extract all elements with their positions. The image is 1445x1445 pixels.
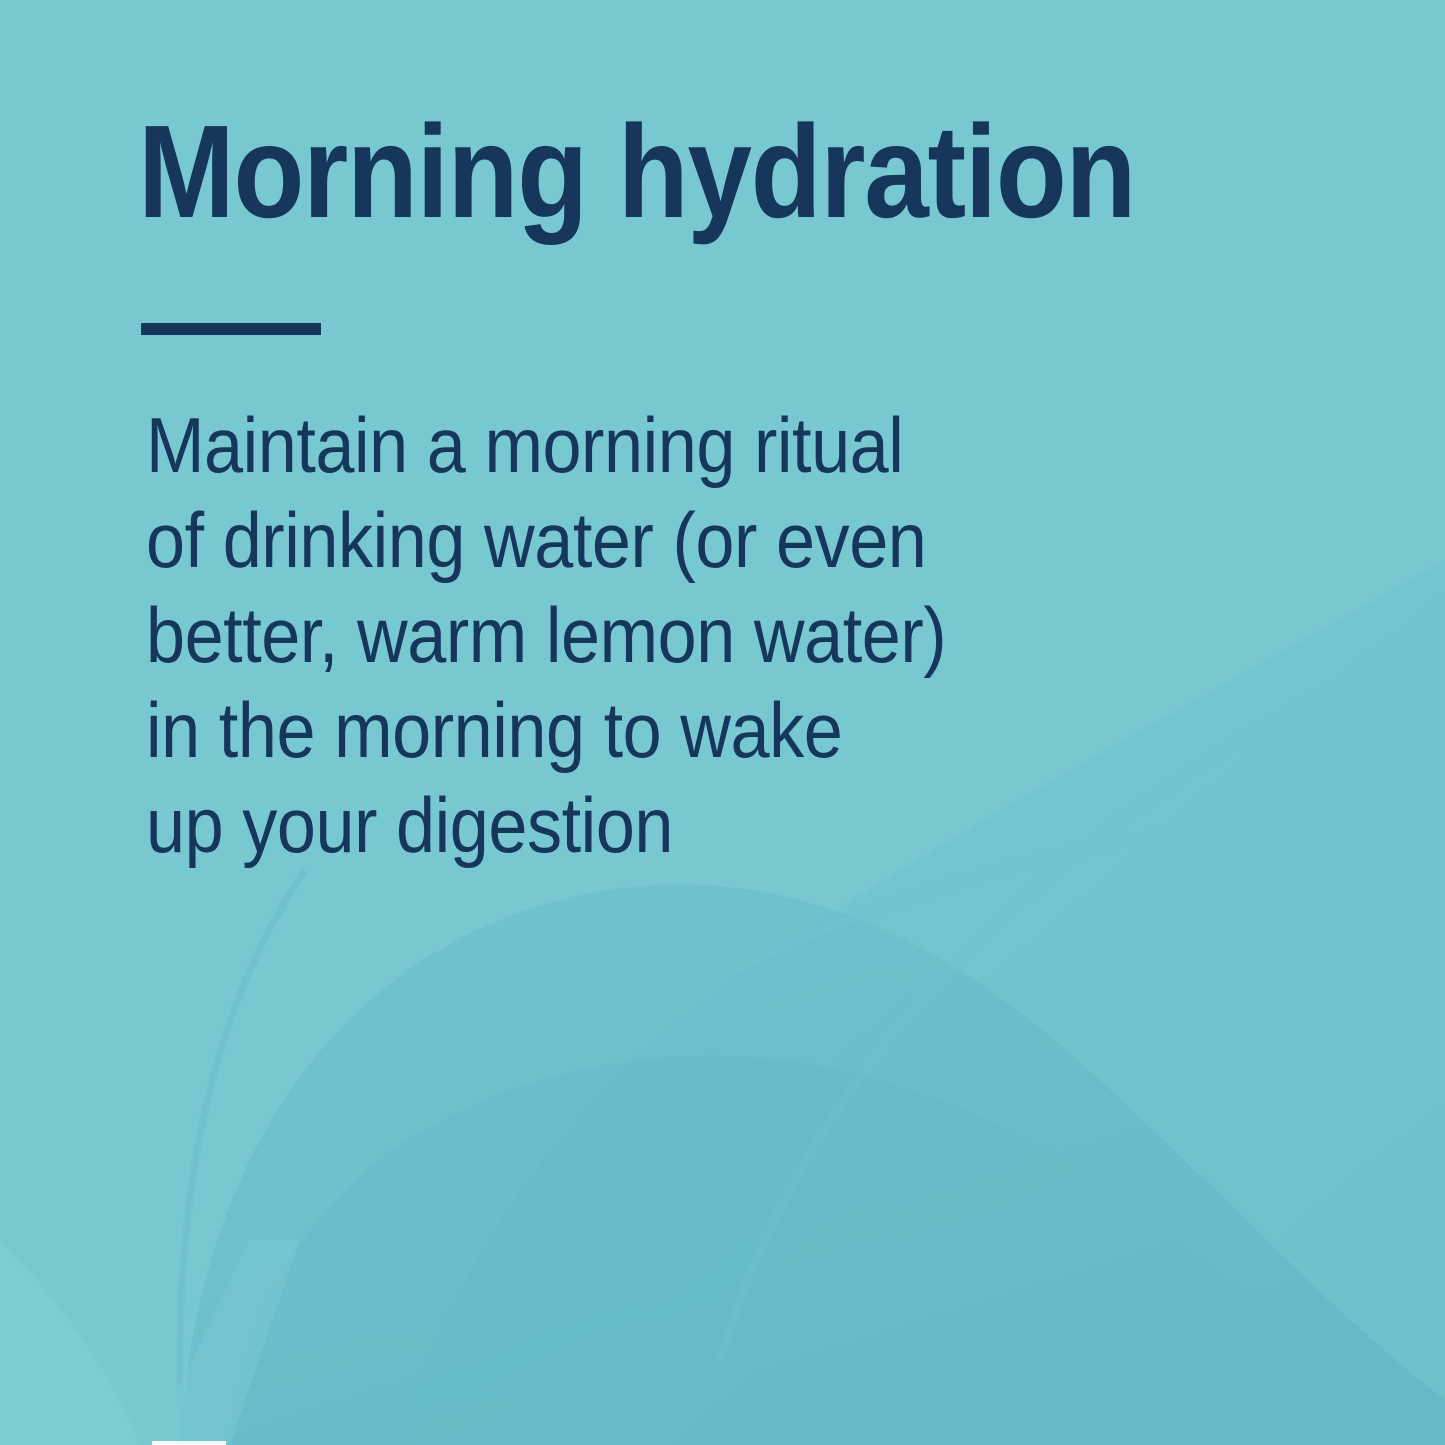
page-title: Morning hydration bbox=[138, 106, 1135, 238]
card-content: Morning hydration Maintain a morning rit… bbox=[0, 0, 1445, 1445]
body-line: of drinking water (or even bbox=[146, 493, 1136, 588]
bottom-accent-strip bbox=[152, 1441, 226, 1445]
title-divider bbox=[141, 323, 321, 335]
hydration-tip-card: Morning hydration Maintain a morning rit… bbox=[0, 0, 1445, 1445]
body-line: in the morning to wake bbox=[146, 683, 1136, 778]
body-line: up your digestion bbox=[146, 778, 1136, 873]
body-paragraph: Maintain a morning ritual of drinking wa… bbox=[146, 398, 1246, 873]
body-line: Maintain a morning ritual bbox=[146, 398, 1136, 493]
body-line: better, warm lemon water) bbox=[146, 588, 1136, 683]
